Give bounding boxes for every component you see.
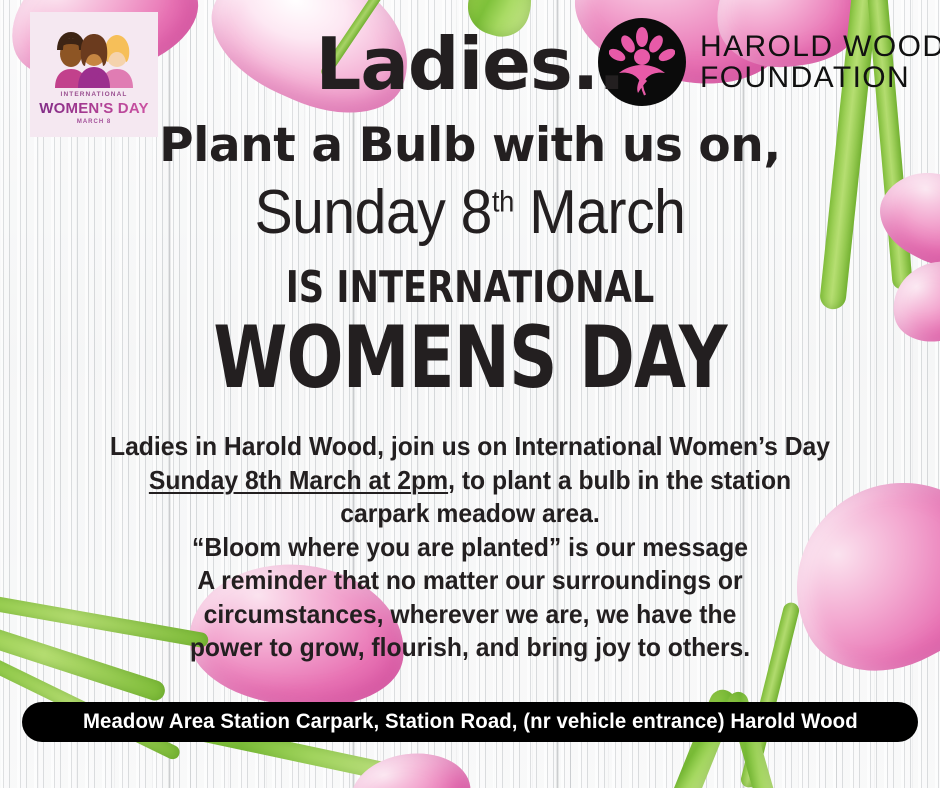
- date-suffix: March: [514, 178, 686, 247]
- headline-ladies: Ladies..: [0, 28, 940, 100]
- body-date-underlined: Sunday 8th March at 2pm: [149, 465, 448, 495]
- body-copy: Ladies in Harold Wood, join us on Intern…: [67, 430, 873, 665]
- headline-is-international: IS INTERNATIONAL: [94, 266, 846, 310]
- address-banner: Meadow Area Station Carpark, Station Roa…: [22, 702, 918, 742]
- body-line: circumstances, wherever we are, we have …: [67, 598, 873, 632]
- badge-line-2: WOMEN'S DAY: [30, 101, 158, 116]
- headline-plant-a-bulb: Plant a Bulb with us on,: [0, 122, 940, 169]
- body-line-date: Sunday 8th March at 2pm, to plant a bulb…: [67, 464, 873, 498]
- address-text: Meadow Area Station Carpark, Station Roa…: [83, 710, 858, 734]
- date-prefix: Sunday 8: [255, 178, 492, 247]
- headline-date: Sunday 8th March: [38, 182, 903, 244]
- body-line: Ladies in Harold Wood, join us on Intern…: [67, 430, 873, 464]
- headline-womens-day: WOMENS DAY: [103, 315, 836, 401]
- poster-canvas: INTERNATIONAL WOMEN'S DAY MARCH 8: [0, 0, 940, 788]
- body-line: A reminder that no matter our surroundin…: [67, 564, 873, 598]
- body-line: power to grow, flourish, and bring joy t…: [67, 631, 873, 665]
- body-line: carpark meadow area.: [67, 497, 873, 531]
- body-date-rest: , to plant a bulb in the station: [448, 465, 791, 495]
- body-line: “Bloom where you are planted” is our mes…: [67, 531, 873, 565]
- date-ordinal: th: [492, 185, 514, 218]
